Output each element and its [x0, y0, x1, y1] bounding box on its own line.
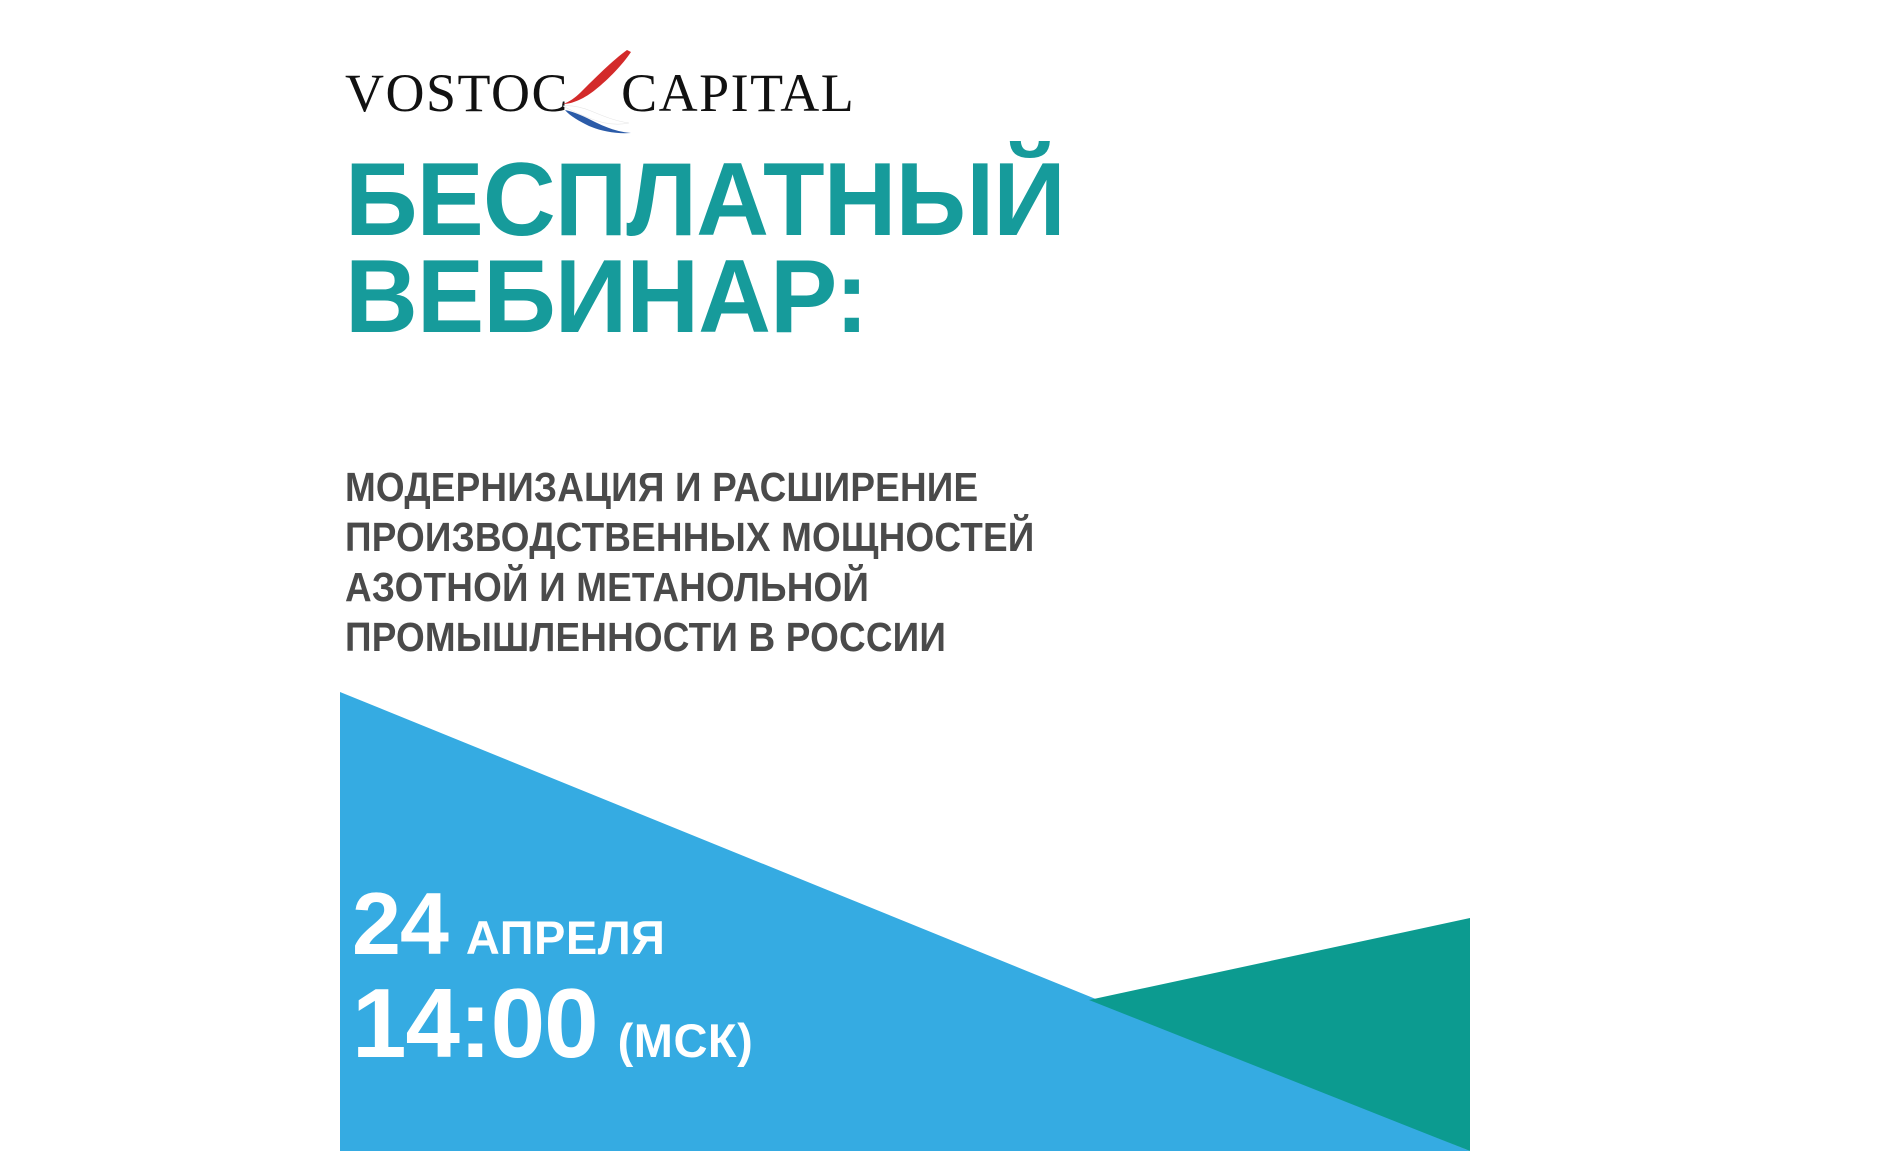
teal-triangle-shape	[1089, 918, 1470, 1151]
webinar-topic-subtitle: МОДЕРНИЗАЦИЯ И РАСШИРЕНИЕ ПРОИЗВОДСТВЕНН…	[345, 462, 1035, 662]
event-timezone: (МСК)	[618, 1017, 754, 1064]
event-month: АПРЕЛЯ	[466, 914, 666, 961]
headline-free-webinar: БЕСПЛАТНЫЙ ВЕБИНАР:	[345, 152, 1065, 345]
event-date-row: 24 АПРЕЛЯ	[352, 880, 753, 968]
event-time: 14:00	[352, 974, 598, 1072]
webinar-promo-banner: VOSTOC CAPITAL БЕСПЛАТНЫЙ ВЕБИНАР: МОДЕР…	[0, 0, 1889, 1151]
logo-text-capital: CAPITAL	[621, 66, 855, 120]
event-day: 24	[352, 880, 448, 968]
ribbon-k-icon	[555, 48, 633, 134]
event-datetime-block: 24 АПРЕЛЯ 14:00 (МСК)	[352, 880, 753, 1072]
vostock-capital-logo[interactable]: VOSTOC CAPITAL	[345, 58, 855, 120]
event-time-row: 14:00 (МСК)	[352, 974, 753, 1072]
logo-text-vostoc: VOSTOC	[345, 66, 569, 120]
